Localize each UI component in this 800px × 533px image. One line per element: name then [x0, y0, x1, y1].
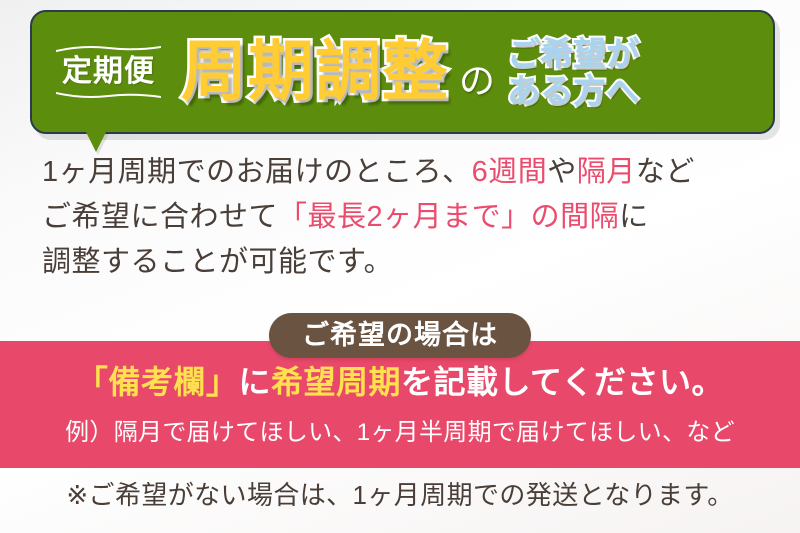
header-content: 定期便 周期調整 の ご希望が ある方へ — [32, 12, 773, 132]
request-case-badge-label: ご希望の場合は — [302, 322, 498, 349]
instruction-example: 例）隔月で届けてほしい、1ヶ月半周期で届けてほしい、など — [0, 421, 800, 445]
description-line-2: ご希望に合わせて「最長2ヶ月まで」の間隔に — [42, 195, 772, 240]
instruction-headline: 「備考欄」に希望周期を記載してください。 — [0, 366, 800, 398]
subscription-badge-label: 定期便 — [62, 55, 155, 88]
description-emphasis-every-other-month: 隔月 — [577, 156, 636, 188]
description-line-1: 1ヶ月周期でのお届けのところ、6週間や隔月など — [42, 150, 772, 195]
header-title: 周期調整 — [181, 38, 449, 104]
description-paragraph: 1ヶ月周期でのお届けのところ、6週間や隔月など ご希望に合わせて「最長2ヶ月まで… — [42, 150, 772, 285]
instruction-headline-text-b: を記載してください。 — [401, 364, 724, 400]
instruction-remarks-field: 「備考欄」 — [76, 364, 239, 400]
instruction-desired-cycle: 希望周期 — [271, 364, 401, 400]
instruction-pink-band: 「備考欄」に希望周期を記載してください。 例）隔月で届けてほしい、1ヶ月半周期で… — [0, 341, 800, 468]
wave-rule-bottom-icon — [56, 90, 161, 100]
header-connector: の — [459, 63, 495, 99]
description-line-1-text-c: など — [636, 156, 695, 188]
description-line-1-text-b: や — [547, 156, 577, 188]
header-green-box: 定期便 周期調整 の ご希望が ある方へ — [30, 10, 775, 134]
description-highlight-max-two-months: 「最長2ヶ月まで」の間隔 — [278, 195, 619, 240]
footnote-default-cycle: ※ご希望がない場合は、1ヶ月周期での発送となります。 — [0, 482, 800, 508]
description-line-2-text-a: ご希望に合わせて — [42, 201, 278, 233]
description-line-2-text-b: に — [619, 201, 649, 233]
description-line-1-text-a: 1ヶ月周期でのお届けのところ、 — [42, 156, 472, 188]
wave-rule-top-icon — [56, 44, 161, 54]
header-subtitle: ご希望が ある方へ — [507, 36, 639, 110]
header-subtitle-line-2: ある方へ — [507, 73, 639, 110]
speech-bubble-tail-icon — [85, 130, 107, 152]
instruction-headline-text-a: に — [238, 364, 271, 400]
description-line-3: 調整することが可能です。 — [42, 240, 772, 285]
promo-banner: 定期便 周期調整 の ご希望が ある方へ 1ヶ月周期でのお届けのところ、6週間 — [0, 0, 800, 533]
header-subtitle-line-1: ご希望が — [507, 36, 639, 73]
description-emphasis-six-weeks: 6週間 — [472, 156, 548, 188]
subscription-badge: 定期便 — [58, 44, 159, 100]
request-case-badge: ご希望の場合は — [269, 313, 531, 358]
header-speech-bubble: 定期便 周期調整 の ご希望が ある方へ — [30, 10, 775, 134]
